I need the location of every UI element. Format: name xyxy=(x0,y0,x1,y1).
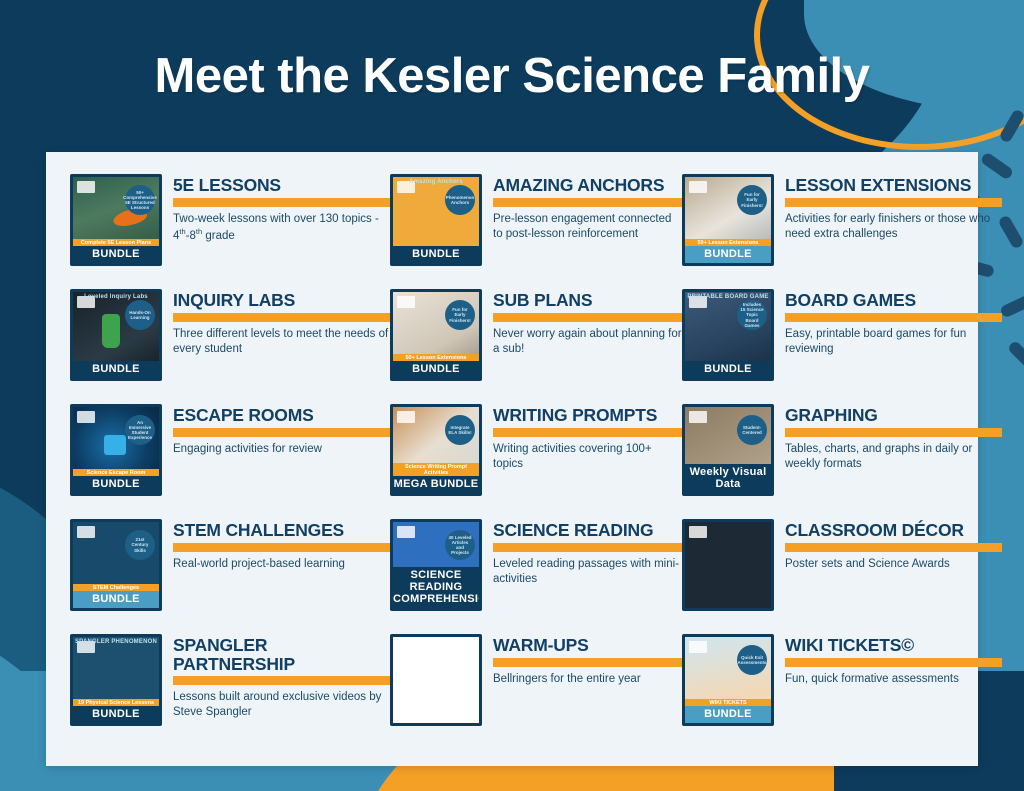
product-description: Activities for early finishers or those … xyxy=(785,212,1002,242)
product-title: LESSON EXTENSIONS xyxy=(785,176,1002,195)
product-text-block: STEM CHALLENGESReal-world project-based … xyxy=(173,519,390,572)
product-text-block: 5E LESSONSTwo-week lessons with over 130… xyxy=(173,174,390,244)
product-grid: 50+ Comprehensive 5E Structured LessonsC… xyxy=(46,152,978,766)
product-text-block: SCIENCE READINGLeveled reading passages … xyxy=(493,519,682,587)
product-text-block: WIKI TICKETS©Fun, quick formative assess… xyxy=(785,634,1002,687)
product-thumbnail[interactable]: Integrate ELA Skills!Science Writing Pro… xyxy=(390,404,482,496)
product-text-block: BOARD GAMESEasy, printable board games f… xyxy=(785,289,1002,357)
product-description: Bellringers for the entire year xyxy=(493,672,682,687)
product-title: CLASSROOM DÉCOR xyxy=(785,521,1002,540)
product-text-block: INQUIRY LABSThree different levels to me… xyxy=(173,289,390,357)
kesler-logo-icon xyxy=(689,181,707,193)
product-description: Two-week lessons with over 130 topics - … xyxy=(173,212,390,244)
product-text-block: GRAPHINGTables, charts, and graphs in da… xyxy=(785,404,1002,472)
thumbnail-badge: Phenomenon Anchors xyxy=(445,185,475,215)
product-description: Pre-lesson engagement connected to post-… xyxy=(493,212,682,242)
product-title: STEM CHALLENGES xyxy=(173,521,390,540)
title-underline-bar xyxy=(173,676,390,685)
thumbnail-subcaption: Science Writing Prompt Activities xyxy=(393,463,479,477)
title-underline-bar xyxy=(493,198,682,207)
thumbnail-badge: Fun for Early Finishers! xyxy=(445,300,475,330)
product-thumbnail[interactable]: An Immersive Student ExperienceScience E… xyxy=(70,404,162,496)
product-description: Real-world project-based learning xyxy=(173,557,390,572)
title-underline-bar xyxy=(173,198,390,207)
product-thumbnail[interactable]: Amazing AnchorsPhenomenon AnchorsBUNDLE xyxy=(390,174,482,266)
thumbnail-caption: BUNDLE xyxy=(393,246,479,263)
product-description: Leveled reading passages with mini-activ… xyxy=(493,557,682,587)
title-underline-bar xyxy=(493,658,682,667)
product-thumbnail[interactable]: Quick Exit AssessmentsWIKI TICKETSBUNDLE xyxy=(682,634,774,726)
product-text-block: WRITING PROMPTSWriting activities coveri… xyxy=(493,404,682,472)
kesler-logo-icon xyxy=(397,641,415,653)
title-underline-bar xyxy=(493,428,682,437)
product-thumbnail[interactable]: Student-CenteredGRAPHS, TABLES, & CHARTS… xyxy=(682,404,774,496)
title-underline-bar xyxy=(173,428,390,437)
product-thumbnail[interactable]: Leveled Inquiry LabsHands-On LearningBUN… xyxy=(70,289,162,381)
product-title: SCIENCE READING xyxy=(493,521,682,540)
product-description: Never worry again about planning for a s… xyxy=(493,327,682,357)
thumbnail-badge: Student-Centered xyxy=(737,415,767,445)
title-underline-bar xyxy=(785,198,1002,207)
product-title: GRAPHING xyxy=(785,406,1002,425)
thumbnail-badge: Integrate ELA Skills! xyxy=(445,415,475,445)
product-title: INQUIRY LABS xyxy=(173,291,390,310)
product-item[interactable]: Integrate ELA Skills!Science Writing Pro… xyxy=(390,404,682,519)
product-item[interactable]: WARM-UPSBellringers for the entire year xyxy=(390,634,682,749)
page-title: Meet the Kesler Science Family xyxy=(0,48,1024,104)
product-title: AMAZING ANCHORS xyxy=(493,176,682,195)
thumbnail-badge: An Immersive Student Experience xyxy=(125,415,155,445)
product-description: Three different levels to meet the needs… xyxy=(173,327,390,357)
product-item[interactable]: Leveled Inquiry LabsHands-On LearningBUN… xyxy=(70,289,390,404)
product-item[interactable]: CLASSROOM DÉCORPoster sets and Science A… xyxy=(682,519,1002,634)
thumbnail-caption: BUNDLE xyxy=(73,361,159,378)
kesler-logo-icon xyxy=(397,296,415,308)
product-item[interactable]: PRINTABLE BOARD GAMEIncludes 15 Science … xyxy=(682,289,1002,404)
product-item[interactable]: 21st Century SkillsSTEM ChallengesBUNDLE… xyxy=(70,519,390,634)
thumbnail-badge: Fun for Early Finishers! xyxy=(737,185,767,215)
thumbnail-caption: MEGA BUNDLE xyxy=(393,476,479,493)
product-text-block: SPANGLER PARTNERSHIPLessons built around… xyxy=(173,634,390,720)
product-title: WIKI TICKETS© xyxy=(785,636,1002,655)
poster-stage: Meet the Kesler Science Family 50+ Compr… xyxy=(0,0,1024,791)
title-underline-bar xyxy=(785,313,1002,322)
thumbnail-badge: 21st Century Skills xyxy=(125,530,155,560)
product-thumbnail[interactable]: 21st Century SkillsSTEM ChallengesBUNDLE xyxy=(70,519,162,611)
thumbnail-badge: Includes 15 Science Topic Board Games xyxy=(737,300,767,330)
thumbnail-caption: BUNDLE xyxy=(393,361,479,378)
product-description: Poster sets and Science Awards xyxy=(785,557,1002,572)
product-thumbnail[interactable]: SPANGLER PHENOMENON19 Physical Science L… xyxy=(70,634,162,726)
product-title: SUB PLANS xyxy=(493,291,682,310)
product-description: Easy, printable board games for fun revi… xyxy=(785,327,1002,357)
product-item[interactable]: Fun for Early Finishers!50+ Lesson Exten… xyxy=(682,174,1002,289)
product-description: Lessons built around exclusive videos by… xyxy=(173,690,390,720)
kesler-logo-icon xyxy=(689,411,707,423)
product-description: Fun, quick formative assessments xyxy=(785,672,1002,687)
title-underline-bar xyxy=(493,313,682,322)
title-underline-bar xyxy=(785,428,1002,437)
product-item[interactable]: 40 Leveled Articles and ProjectsBundle E… xyxy=(390,519,682,634)
product-item[interactable]: Fun for Early Finishers!50+ Lesson Exten… xyxy=(390,289,682,404)
product-description: Tables, charts, and graphs in daily or w… xyxy=(785,442,1002,472)
product-text-block: SUB PLANSNever worry again about plannin… xyxy=(493,289,682,357)
thumbnail-badge: Quick Exit Assessments xyxy=(737,645,767,675)
product-thumbnail[interactable]: Fun for Early Finishers!50+ Lesson Exten… xyxy=(682,174,774,266)
kesler-logo-icon xyxy=(397,411,415,423)
product-item[interactable]: Amazing AnchorsPhenomenon AnchorsBUNDLEA… xyxy=(390,174,682,289)
product-item[interactable]: SPANGLER PHENOMENON19 Physical Science L… xyxy=(70,634,390,749)
thumbnail-caption: BUNDLE xyxy=(73,706,159,723)
thumbnail-caption: Weekly Visual Data xyxy=(685,464,771,493)
thumbnail-caption: BUNDLE xyxy=(685,246,771,263)
title-underline-bar xyxy=(173,543,390,552)
product-thumbnail[interactable] xyxy=(682,519,774,611)
thumbnail-caption: BUNDLE xyxy=(73,246,159,263)
product-item[interactable]: An Immersive Student ExperienceScience E… xyxy=(70,404,390,519)
product-thumbnail[interactable]: 50+ Comprehensive 5E Structured LessonsC… xyxy=(70,174,162,266)
thumbnail-caption: BUNDLE xyxy=(73,591,159,608)
product-item[interactable]: Quick Exit AssessmentsWIKI TICKETSBUNDLE… xyxy=(682,634,1002,749)
kesler-logo-icon xyxy=(77,181,95,193)
thumbnail-badge: Hands-On Learning xyxy=(125,300,155,330)
product-title: ESCAPE ROOMS xyxy=(173,406,390,425)
product-text-block: CLASSROOM DÉCORPoster sets and Science A… xyxy=(785,519,1002,572)
product-title: WRITING PROMPTS xyxy=(493,406,682,425)
product-title: 5E LESSONS xyxy=(173,176,390,195)
thumbnail-top-caption: SPANGLER PHENOMENON xyxy=(73,637,159,647)
product-text-block: WARM-UPSBellringers for the entire year xyxy=(493,634,682,687)
product-item[interactable]: Student-CenteredGRAPHS, TABLES, & CHARTS… xyxy=(682,404,1002,519)
title-underline-bar xyxy=(493,543,682,552)
kesler-logo-icon xyxy=(77,526,95,538)
product-description: Writing activities covering 100+ topics xyxy=(493,442,682,472)
product-item[interactable]: 50+ Comprehensive 5E Structured LessonsC… xyxy=(70,174,390,289)
title-underline-bar xyxy=(173,313,390,322)
thumbnail-caption: BUNDLE xyxy=(685,706,771,723)
thumbnail-badge: 50+ Comprehensive 5E Structured Lessons xyxy=(125,185,155,215)
kesler-logo-icon xyxy=(397,526,415,538)
title-underline-bar xyxy=(785,543,1002,552)
kesler-logo-icon xyxy=(77,411,95,423)
product-text-block: AMAZING ANCHORSPre-lesson engagement con… xyxy=(493,174,682,242)
thumbnail-caption: SCIENCE READING COMPREHENSION xyxy=(393,567,479,608)
product-thumbnail[interactable]: Fun for Early Finishers!50+ Lesson Exten… xyxy=(390,289,482,381)
product-title: WARM-UPS xyxy=(493,636,682,655)
product-thumbnail[interactable]: PRINTABLE BOARD GAMEIncludes 15 Science … xyxy=(682,289,774,381)
product-title: SPANGLER PARTNERSHIP xyxy=(173,636,390,673)
kesler-logo-icon xyxy=(689,526,707,538)
product-description: Engaging activities for review xyxy=(173,442,390,457)
product-text-block: ESCAPE ROOMSEngaging activities for revi… xyxy=(173,404,390,457)
product-title: BOARD GAMES xyxy=(785,291,1002,310)
thumbnail-caption: BUNDLE xyxy=(73,476,159,493)
product-thumbnail[interactable] xyxy=(390,634,482,726)
title-underline-bar xyxy=(785,658,1002,667)
thumbnail-badge: 40 Leveled Articles and Projects xyxy=(445,530,475,560)
product-thumbnail[interactable]: 40 Leveled Articles and ProjectsBundle E… xyxy=(390,519,482,611)
thumbnail-caption: BUNDLE xyxy=(685,361,771,378)
product-text-block: LESSON EXTENSIONSActivities for early fi… xyxy=(785,174,1002,242)
kesler-logo-icon xyxy=(689,641,707,653)
